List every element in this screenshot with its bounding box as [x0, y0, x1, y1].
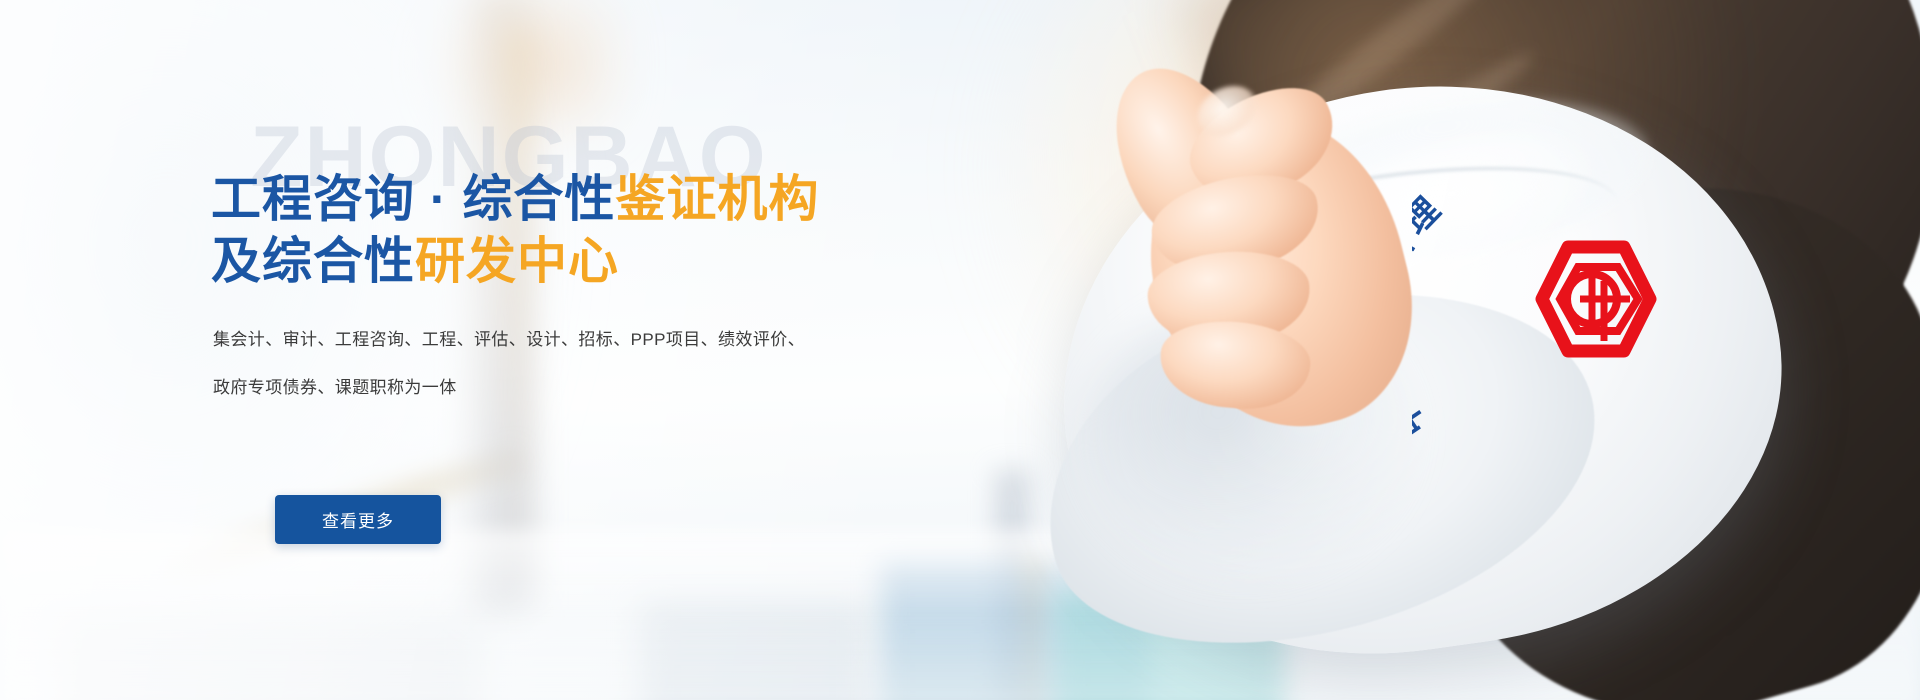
subtitle-line-2: 政府专项债券、课题职称为一体 [213, 364, 863, 412]
svg-text:中宝工程管理: 中宝工程管理 [1412, 186, 1452, 444]
headline-line-2-orange: 研发中心 [415, 233, 619, 289]
view-more-button[interactable]: 查看更多 [275, 495, 441, 544]
headline-line-2-blue: 及综合性 [211, 233, 415, 289]
headline-line-1-orange: 鉴证机构 [615, 171, 819, 227]
subtitle-line-1: 集会计、审计、工程咨询、工程、评估、设计、招标、PPP项目、绩效评价、 [213, 316, 863, 364]
hero-subtitle: 集会计、审计、工程咨询、工程、评估、设计、招标、PPP项目、绩效评价、 政府专项… [213, 316, 863, 412]
company-emblem-icon [1534, 237, 1658, 361]
headline-line-1: 工程咨询 · 综合性鉴证机构 [211, 168, 1071, 230]
helmet-logo-textpath: 中宝工程管理 [1412, 186, 1452, 444]
headline-line-1-blue: 工程咨询 · 综合性 [211, 171, 615, 227]
headline-line-2: 及综合性研发中心 [211, 230, 1071, 292]
page-title: 工程咨询 · 综合性鉴证机构 及综合性研发中心 [211, 168, 1071, 292]
hero-banner: 中宝工程管理 ZHONGBAO 工程 [0, 0, 1920, 700]
hero-copy: ZHONGBAO 工程咨询 · 综合性鉴证机构 及综合性研发中心 集会计、审计、… [211, 0, 1071, 700]
